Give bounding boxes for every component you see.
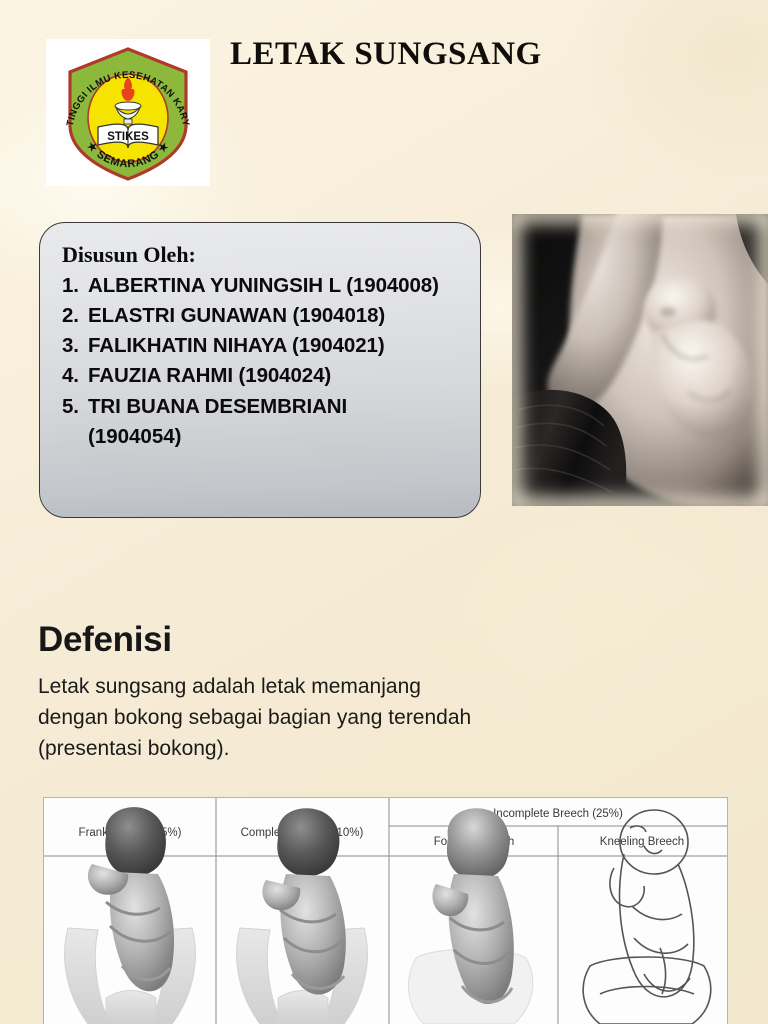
page-title: LETAK SUNGSANG: [230, 36, 650, 73]
authors-heading: Disusun Oleh:: [62, 241, 458, 269]
list-item-number: 3.: [62, 331, 88, 361]
definition-text: Letak sungsang adalah letak memanjang de…: [38, 672, 478, 765]
list-item-label: FAUZIA RAHMI (1904024): [88, 361, 458, 391]
stikes-logo-icon: SEKOLAH TINGGI ILMU KESEHATAN KARYA HUSA…: [46, 39, 210, 186]
section-heading-definition: Defenisi: [38, 620, 172, 660]
breech-types-image: Frank Breech (65%) Complete Breech (10%)…: [44, 798, 727, 1024]
breech-types-diagram: Frank Breech (65%) Complete Breech (10%)…: [43, 797, 728, 1024]
list-item-label: TRI BUANA DESEMBRIANI: [88, 392, 458, 422]
list-item-number: 1.: [62, 271, 88, 301]
list-item: 4. FAUZIA RAHMI (1904024): [62, 361, 458, 391]
list-item-continuation: (1904054): [62, 422, 458, 452]
photo-image: [512, 214, 768, 506]
list-item: 5. TRI BUANA DESEMBRIANI: [62, 392, 458, 422]
pregnant-mother-baby-photo: [512, 214, 768, 506]
list-item-label: ALBERTINA YUNINGSIH L (1904008): [88, 271, 458, 301]
list-item: 2. ELASTRI GUNAWAN (1904018): [62, 301, 458, 331]
list-item: 1. ALBERTINA YUNINGSIH L (1904008): [62, 271, 458, 301]
list-item-number: 5.: [62, 392, 88, 422]
list-item-label: ELASTRI GUNAWAN (1904018): [88, 301, 458, 331]
list-item-number: 2.: [62, 301, 88, 331]
authors-panel: Disusun Oleh: 1. ALBERTINA YUNINGSIH L (…: [39, 222, 481, 518]
list-item: 3. FALIKHATIN NIHAYA (1904021): [62, 331, 458, 361]
stikes-logo: SEKOLAH TINGGI ILMU KESEHATAN KARYA HUSA…: [46, 39, 210, 186]
group-header-incomplete-breech: Incomplete Breech (25%): [493, 808, 623, 820]
list-item-number: 4.: [62, 361, 88, 391]
list-item-label: FALIKHATIN NIHAYA (1904021): [88, 331, 458, 361]
column-header-kneeling-breech: Kneeling Breech: [600, 836, 684, 848]
svg-text:STIKES: STIKES: [107, 131, 149, 143]
slide-canvas: LETAK SUNGSANG SEKOLAH TINGGI ILMU K: [0, 0, 768, 1024]
